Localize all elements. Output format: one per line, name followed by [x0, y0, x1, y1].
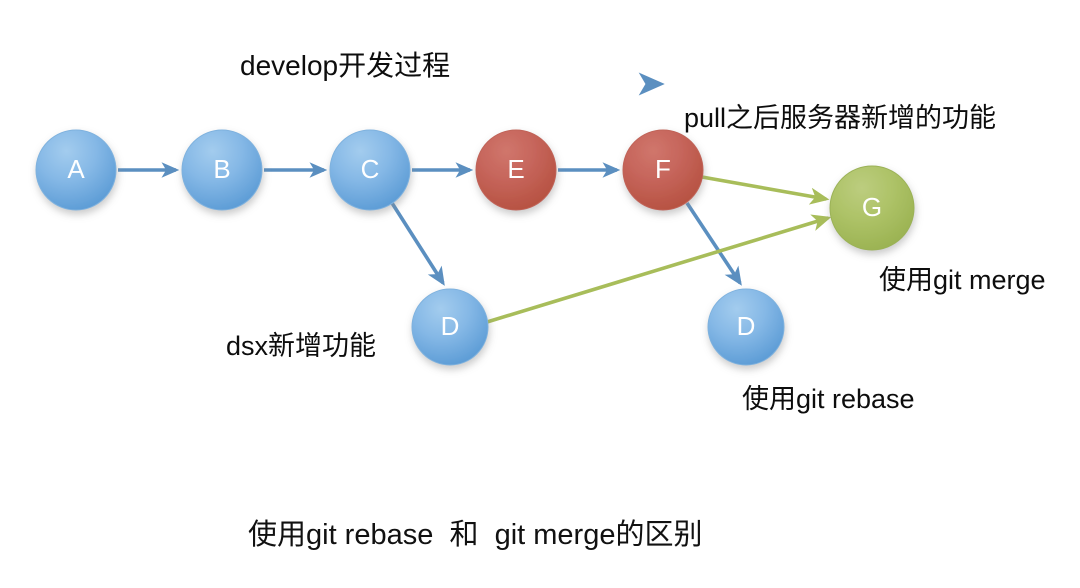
edge-f-to-g-merge — [702, 177, 826, 199]
commit-node-b-label: B — [213, 154, 230, 184]
diagram-caption: 使用git rebase 和 git merge的区别 — [248, 511, 702, 553]
edge-f-to-d-right — [687, 203, 740, 283]
annotation-develop: develop开发过程 — [240, 44, 450, 84]
commit-node-g[interactable]: G — [830, 166, 914, 250]
commit-node-a[interactable]: A — [36, 130, 116, 210]
commit-node-c-label: C — [361, 154, 380, 184]
annotation-dsx-feature: dsx新增功能 — [226, 324, 376, 363]
commit-node-e[interactable]: E — [476, 130, 556, 210]
commit-node-g-label: G — [862, 192, 882, 222]
diagram-canvas: A B C E F G D D develop开发过程 — [0, 0, 1080, 588]
annotation-git-rebase: 使用git rebase — [742, 377, 915, 416]
commit-node-c[interactable]: C — [330, 130, 410, 210]
commit-node-a-label: A — [67, 154, 85, 184]
commit-node-f[interactable]: F — [623, 130, 703, 210]
commit-node-d-left-label: D — [441, 311, 460, 341]
annotation-pull: pull之后服务器新增的功能 — [684, 96, 996, 135]
commit-node-e-label: E — [507, 154, 524, 184]
commit-node-d-left[interactable]: D — [412, 289, 488, 365]
annotation-git-merge: 使用git merge — [879, 258, 1046, 297]
commit-node-d-right[interactable]: D — [708, 289, 784, 365]
commit-node-b[interactable]: B — [182, 130, 262, 210]
commit-node-d-right-label: D — [737, 311, 756, 341]
edge-c-to-d-left — [392, 203, 443, 283]
commit-node-f-label: F — [655, 154, 671, 184]
